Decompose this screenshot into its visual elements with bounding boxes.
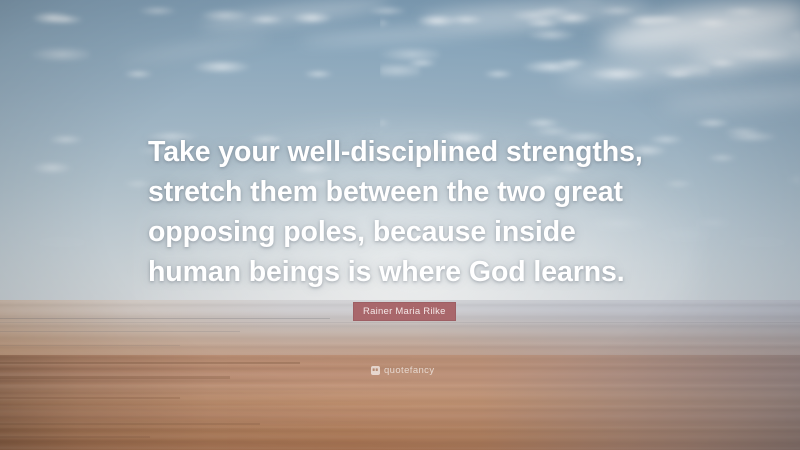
quote-line-4: human beings is where God learns.	[148, 252, 658, 292]
watermark-brand: quotefancy	[384, 365, 434, 376]
sand-band-5	[0, 436, 150, 438]
quote-wallpaper: Take your well-disciplined strengths, st…	[0, 0, 800, 450]
quote-line-1: Take your well-disciplined strengths,	[148, 132, 658, 172]
sand-band-4	[0, 423, 260, 425]
quote-line-2: stretch them between the two great	[148, 172, 658, 212]
author-name: Rainer Maria Rilke	[363, 306, 446, 317]
author-badge[interactable]: Rainer Maria Rilke	[353, 302, 456, 321]
sand-band-1	[0, 362, 300, 364]
sand-band-2	[0, 376, 230, 379]
quote-line-3: opposing poles, because inside	[148, 212, 658, 252]
quote-text: Take your well-disciplined strengths, st…	[148, 132, 658, 292]
sand-band-3	[0, 397, 180, 399]
quote-mark-icon	[371, 366, 380, 375]
watermark[interactable]: quotefancy	[371, 365, 434, 376]
